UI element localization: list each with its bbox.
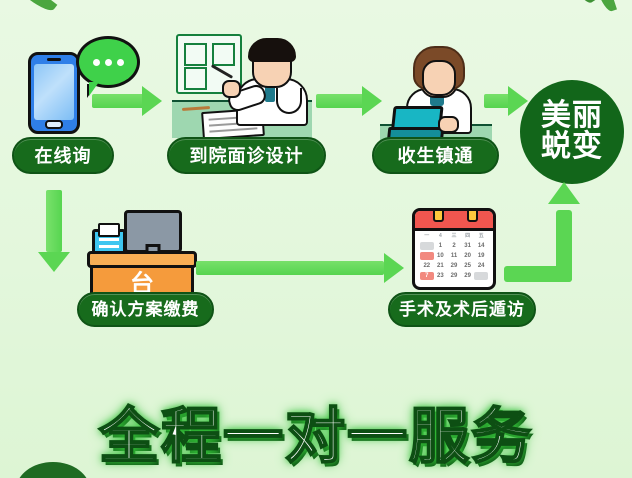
doctor-hair <box>248 38 296 62</box>
bubble-dot <box>105 59 112 66</box>
arrow-elbow-up <box>504 200 580 282</box>
step-label-confirm-payment[interactable]: 确认方案缴费 <box>77 292 214 327</box>
arrow-shaft <box>316 94 364 108</box>
phone-notch <box>47 58 61 61</box>
chat-bubble-icon <box>76 36 140 88</box>
bubble-dot <box>93 59 100 66</box>
terminal-bar <box>99 238 119 241</box>
page-headline: 全程一对一服务 <box>0 388 632 475</box>
arrow-right-2 <box>316 86 382 116</box>
stethoscope-icon <box>276 88 302 114</box>
calendar-header <box>415 211 493 231</box>
infographic-canvas: 美丽 蜕变 在线询 到院面诊设计 收生镇通 台 <box>0 0 632 478</box>
doctor-consult-icon <box>172 26 312 136</box>
calendar-day-marked: 7 <box>420 272 434 280</box>
calendar-weekday: 一 <box>420 232 434 240</box>
step-label-in-person-design[interactable]: 到院面诊设计 <box>167 137 326 174</box>
calendar-ring <box>467 208 478 222</box>
calendar-weekday: 四 <box>461 232 475 240</box>
step-label-online-consult[interactable]: 在线询 <box>12 137 114 174</box>
arrow-down-1 <box>34 190 74 272</box>
step-label-receive-plan[interactable]: 收生镇通 <box>372 137 499 174</box>
arrow-head <box>142 86 162 116</box>
calendar-ring <box>433 208 444 222</box>
calendar-day: 20 <box>461 252 475 260</box>
pill-text: 收生镇通 <box>398 147 474 165</box>
calendar-day-marked <box>420 252 434 260</box>
calendar-day: 21 <box>434 262 448 270</box>
phone-icon <box>28 52 80 134</box>
board-cell <box>184 43 207 66</box>
arrow-shaft-vertical <box>556 210 572 282</box>
calendar-day: 29 <box>461 272 475 280</box>
calendar-weekday: 五 <box>474 232 488 240</box>
leaf-icon <box>591 0 617 13</box>
monitor-icon <box>124 210 182 253</box>
arrow-shaft <box>46 190 62 252</box>
result-line-2: 蜕变 <box>541 132 603 163</box>
result-badge[interactable]: 美丽 蜕变 <box>520 80 624 184</box>
calendar-day: 24 <box>474 262 488 270</box>
arrow-head <box>362 86 382 116</box>
arrow-right-3 <box>484 86 528 116</box>
pill-text: 在线询 <box>35 147 92 165</box>
calendar-day: 25 <box>461 262 475 270</box>
calendar-weekday: 4 <box>434 232 448 240</box>
arrow-head <box>38 252 70 272</box>
arrow-head <box>548 182 580 204</box>
bubble-dot <box>117 59 124 66</box>
doctor-hand <box>438 116 459 133</box>
calendar-day: 11 <box>447 252 461 260</box>
arrow-right-1 <box>92 86 162 116</box>
calendar-day: 0 <box>474 272 488 280</box>
calendar-day: 22 <box>420 262 434 270</box>
board-cell <box>184 67 207 90</box>
calendar-day: 29 <box>447 272 461 280</box>
result-line-1: 美丽 <box>541 101 603 132</box>
arrow-shaft <box>196 261 384 275</box>
pill-text: 到院面诊设计 <box>190 147 304 165</box>
phone-home-button <box>45 120 63 129</box>
step-label-surgery-followup[interactable]: 手术及术后遁访 <box>388 292 536 327</box>
calendar-day: 31 <box>461 242 475 250</box>
calendar-icon: 一 4 三 四 五 0 1 2 31 14 10 11 20 19 22 21 … <box>412 208 496 290</box>
doctor-hand <box>222 80 241 98</box>
receipt-paper <box>98 223 120 237</box>
calendar-day: 14 <box>474 242 488 250</box>
board-cell <box>212 43 235 66</box>
arrow-right-4 <box>196 252 404 284</box>
calendar-weekday: 三 <box>447 232 461 240</box>
reception-counter-icon: 台 <box>84 205 194 293</box>
laptop-icon <box>390 106 443 136</box>
calendar-day: 10 <box>434 252 448 260</box>
arrow-shaft <box>92 94 144 108</box>
calendar-day: 0 <box>420 242 434 250</box>
female-doctor-laptop-icon <box>386 36 486 136</box>
paper-line <box>209 127 257 132</box>
calendar-day: 19 <box>474 252 488 260</box>
calendar-day: 1 <box>434 242 448 250</box>
leaf-icon <box>15 0 58 15</box>
pill-text: 确认方案缴费 <box>92 301 200 318</box>
terminal-bar <box>99 245 119 248</box>
pill-text: 手术及术后遁访 <box>399 301 525 318</box>
calendar-day: 23 <box>434 272 448 280</box>
calendar-day: 29 <box>447 262 461 270</box>
doctor-face <box>422 60 456 96</box>
calendar-day: 2 <box>447 242 461 250</box>
calendar-grid: 一 4 三 四 五 0 1 2 31 14 10 11 20 19 22 21 … <box>420 232 488 280</box>
arrow-head <box>384 253 404 283</box>
phone-screen <box>34 64 74 120</box>
leaf-icon <box>564 0 595 6</box>
